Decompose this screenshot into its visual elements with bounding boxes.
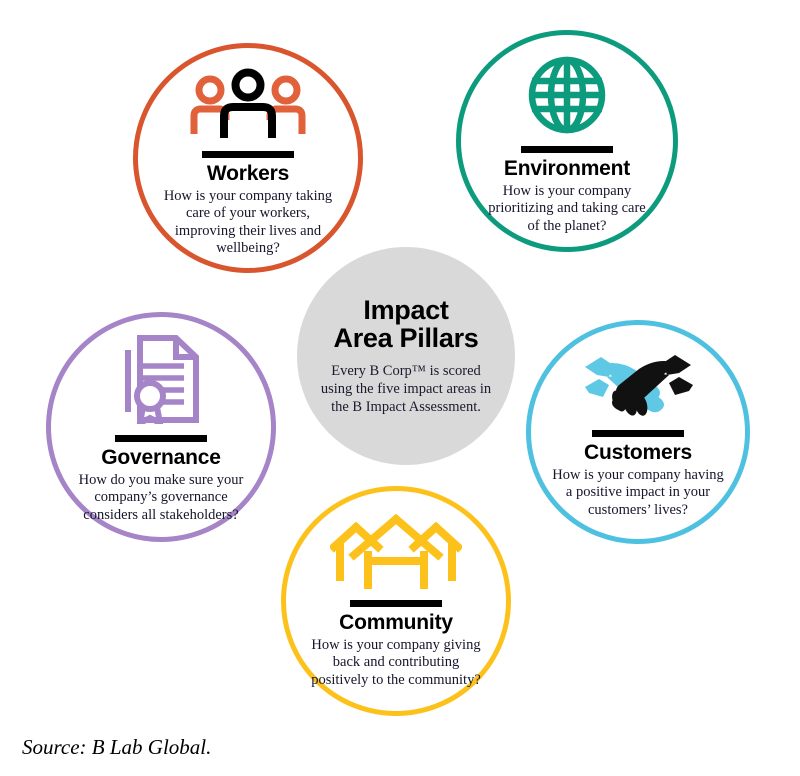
source-caption: Source: B Lab Global.: [22, 735, 211, 760]
pillar-community-content: Community How is your company giving bac…: [286, 511, 506, 711]
pillar-customers[interactable]: Customers How is your company having a p…: [526, 320, 750, 544]
pillar-description: How is your company giving back and cont…: [304, 637, 488, 689]
center-description: Every B Corp™ is scored using the five i…: [316, 363, 496, 416]
pillar-divider-rule: [202, 151, 294, 158]
pillar-governance-content: Governance How do you make sure your com…: [51, 334, 271, 537]
pillar-title: Customers: [584, 441, 692, 464]
pillar-title: Workers: [207, 162, 289, 185]
pillar-title: Governance: [101, 446, 220, 469]
pillar-description: How is your company having a positive im…: [552, 467, 724, 519]
globe-icon: [527, 55, 607, 140]
pillar-workers[interactable]: Workers How is your company taking care …: [133, 43, 363, 273]
pillar-governance[interactable]: Governance How do you make sure your com…: [46, 312, 276, 542]
pillar-divider-rule: [592, 430, 684, 437]
center-impact-area-pillars: Impact Area Pillars Every B Corp™ is sco…: [297, 247, 515, 465]
impact-area-pillars-infographic: Workers How is your company taking care …: [0, 0, 800, 776]
pillar-description: How is your company taking care of your …: [160, 188, 336, 258]
people-group-icon: [190, 68, 306, 145]
pillar-divider-rule: [115, 435, 207, 442]
pillar-title: Community: [339, 611, 453, 634]
pillar-title: Environment: [504, 157, 630, 180]
pillar-community[interactable]: Community How is your company giving bac…: [281, 486, 511, 716]
pillar-description: How do you make sure your company’s gove…: [71, 472, 251, 524]
pillar-description: How is your company prioritizing and tak…: [482, 183, 652, 235]
pillar-environment[interactable]: Environment How is your company prioriti…: [456, 30, 678, 252]
houses-icon: [330, 511, 462, 594]
handshake-icon: [579, 347, 697, 424]
pillar-environment-content: Environment How is your company prioriti…: [461, 55, 673, 247]
center-title: Impact Area Pillars: [334, 296, 479, 354]
pillar-divider-rule: [521, 146, 613, 153]
pillar-divider-rule: [350, 600, 442, 607]
pillar-customers-content: Customers How is your company having a p…: [531, 347, 745, 539]
certificate-icon: [118, 334, 204, 429]
pillar-workers-content: Workers How is your company taking care …: [138, 68, 358, 268]
